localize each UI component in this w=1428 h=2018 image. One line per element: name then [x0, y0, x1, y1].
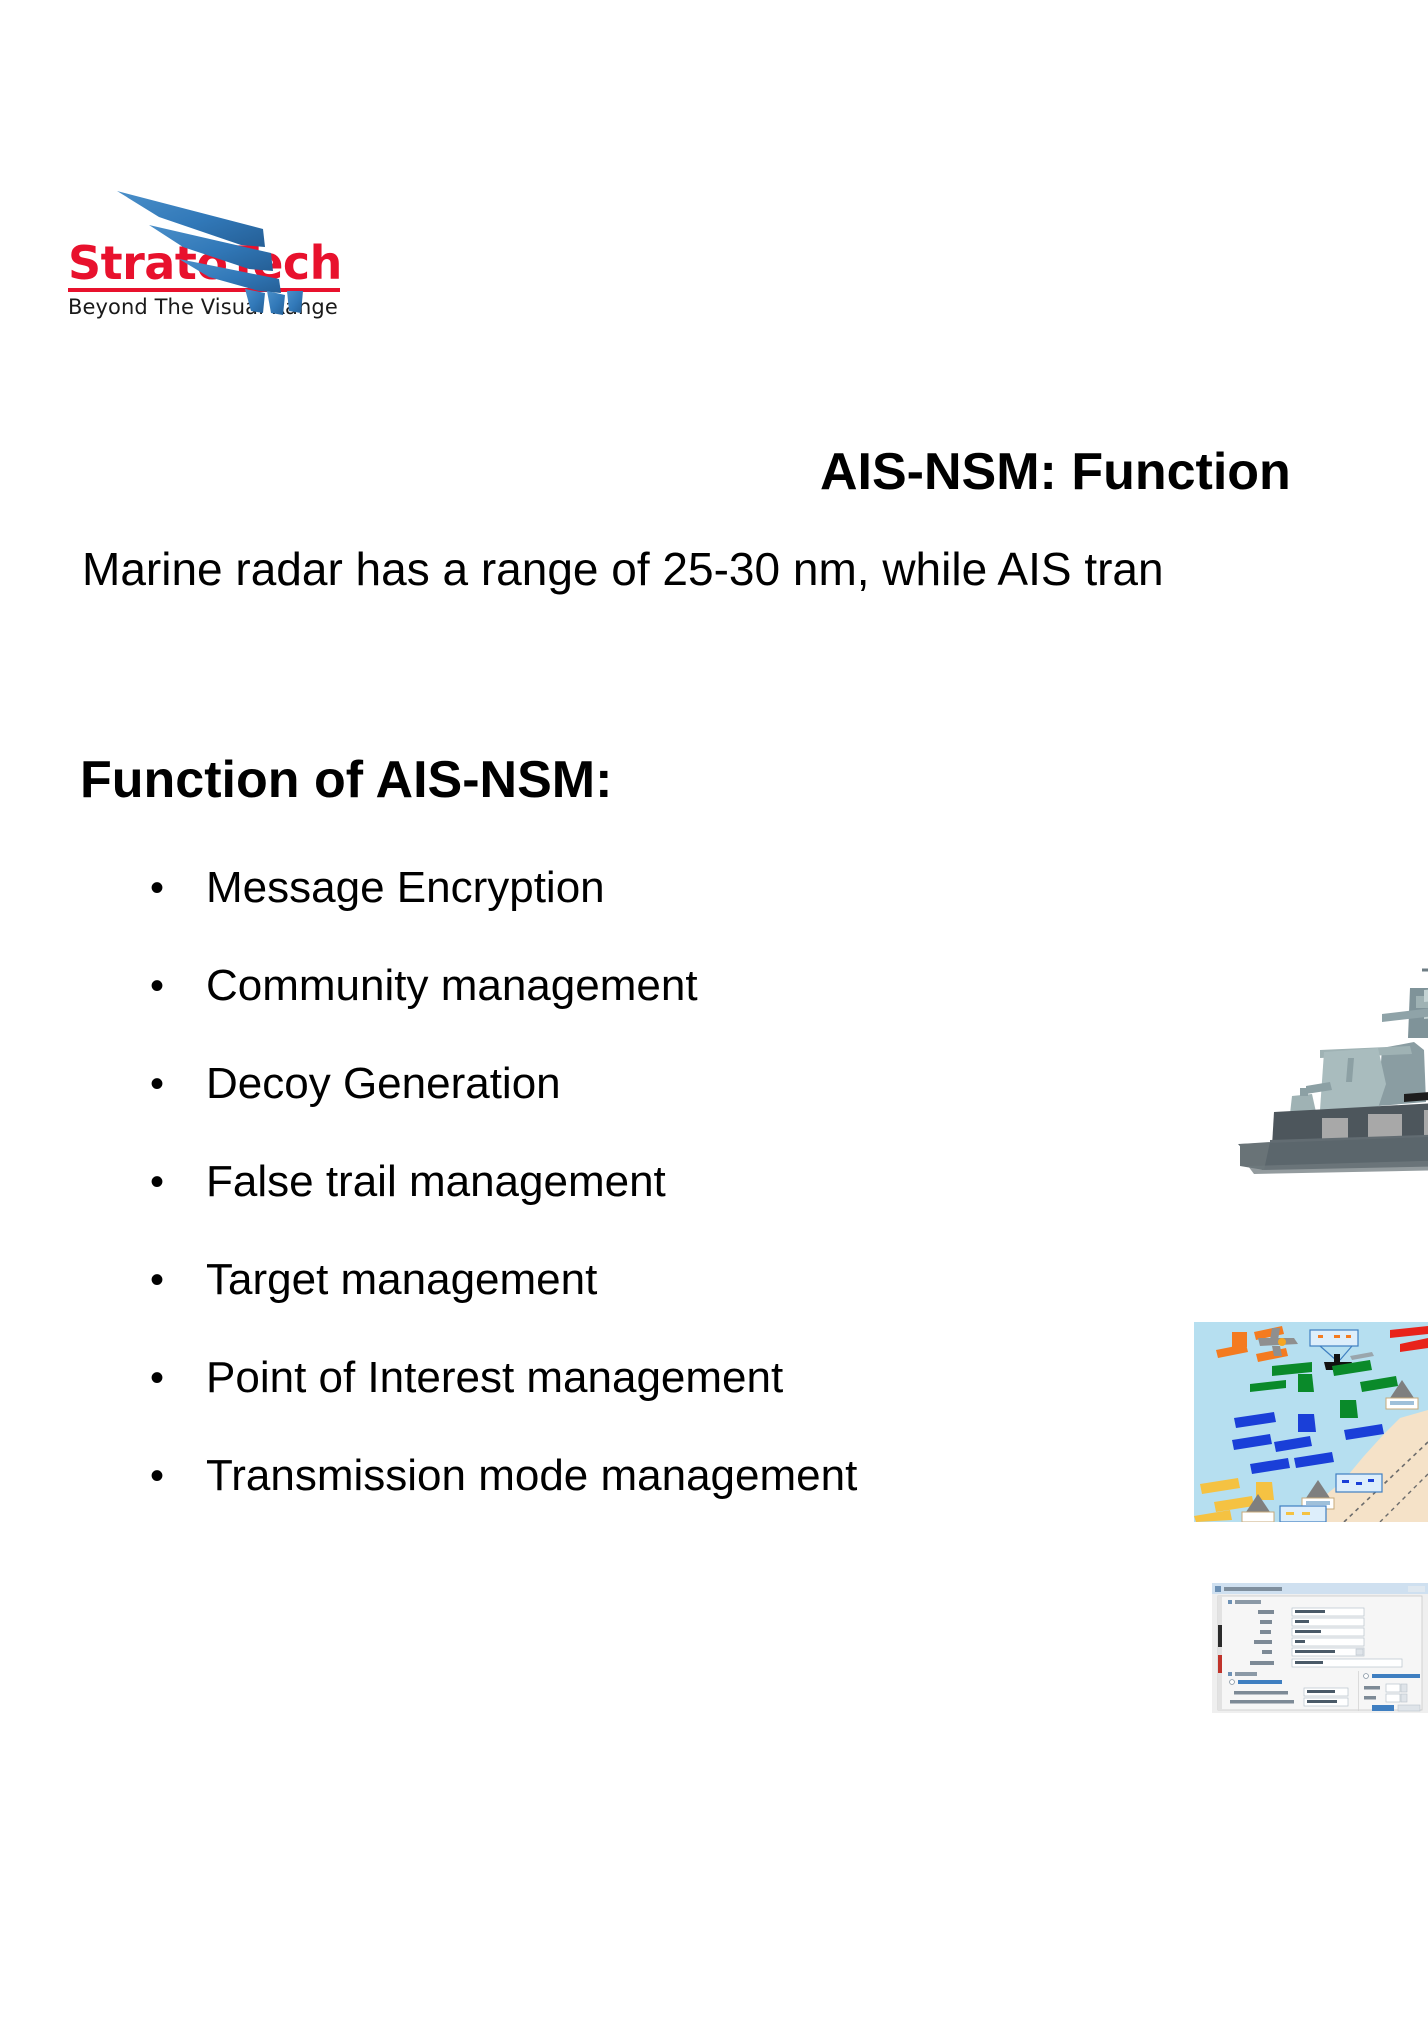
list-item: • Message Encryption [150, 855, 1150, 953]
naval-warship-illustration [1196, 930, 1428, 1180]
list-item-label: Point of Interest management [206, 1345, 783, 1411]
list-item-label: Transmission mode management [206, 1443, 857, 1509]
bullet-point-icon: • [150, 953, 206, 1019]
section-heading: Function of AIS-NSM: [80, 750, 612, 810]
windows-settings-dialog-screenshot [1212, 1583, 1428, 1713]
bullet-point-icon: • [150, 1443, 206, 1509]
maritime-tactical-map [1194, 1322, 1428, 1522]
list-item: • Point of Interest management [150, 1345, 1150, 1443]
bullet-point-icon: • [150, 1051, 206, 1117]
list-item-label: False trail management [206, 1149, 666, 1215]
list-item: • Decoy Generation [150, 1051, 1150, 1149]
bullet-point-icon: • [150, 1247, 206, 1313]
list-item-label: Decoy Generation [206, 1051, 561, 1117]
function-bullet-list: • Message Encryption • Community managem… [150, 855, 1150, 1541]
wing-logo-icon [113, 185, 303, 315]
stratotech-logo: StratoTech Beyond The Visual Range [68, 240, 368, 319]
bullet-point-icon: • [150, 855, 206, 921]
list-item-label: Target management [206, 1247, 597, 1313]
bullet-point-icon: • [150, 1345, 206, 1411]
list-item: • False trail management [150, 1149, 1150, 1247]
presentation-slide: StratoTech Beyond The Visual Range AIS-N… [0, 0, 1428, 2018]
list-item: • Transmission mode management [150, 1443, 1150, 1541]
slide-title: AIS-NSM: Function [820, 442, 1291, 502]
list-item: • Community management [150, 953, 1150, 1051]
slide-subtitle: Marine radar has a range of 25-30 nm, wh… [82, 542, 1164, 596]
list-item: • Target management [150, 1247, 1150, 1345]
bullet-point-icon: • [150, 1149, 206, 1215]
list-item-label: Community management [206, 953, 698, 1019]
list-item-label: Message Encryption [206, 855, 605, 921]
